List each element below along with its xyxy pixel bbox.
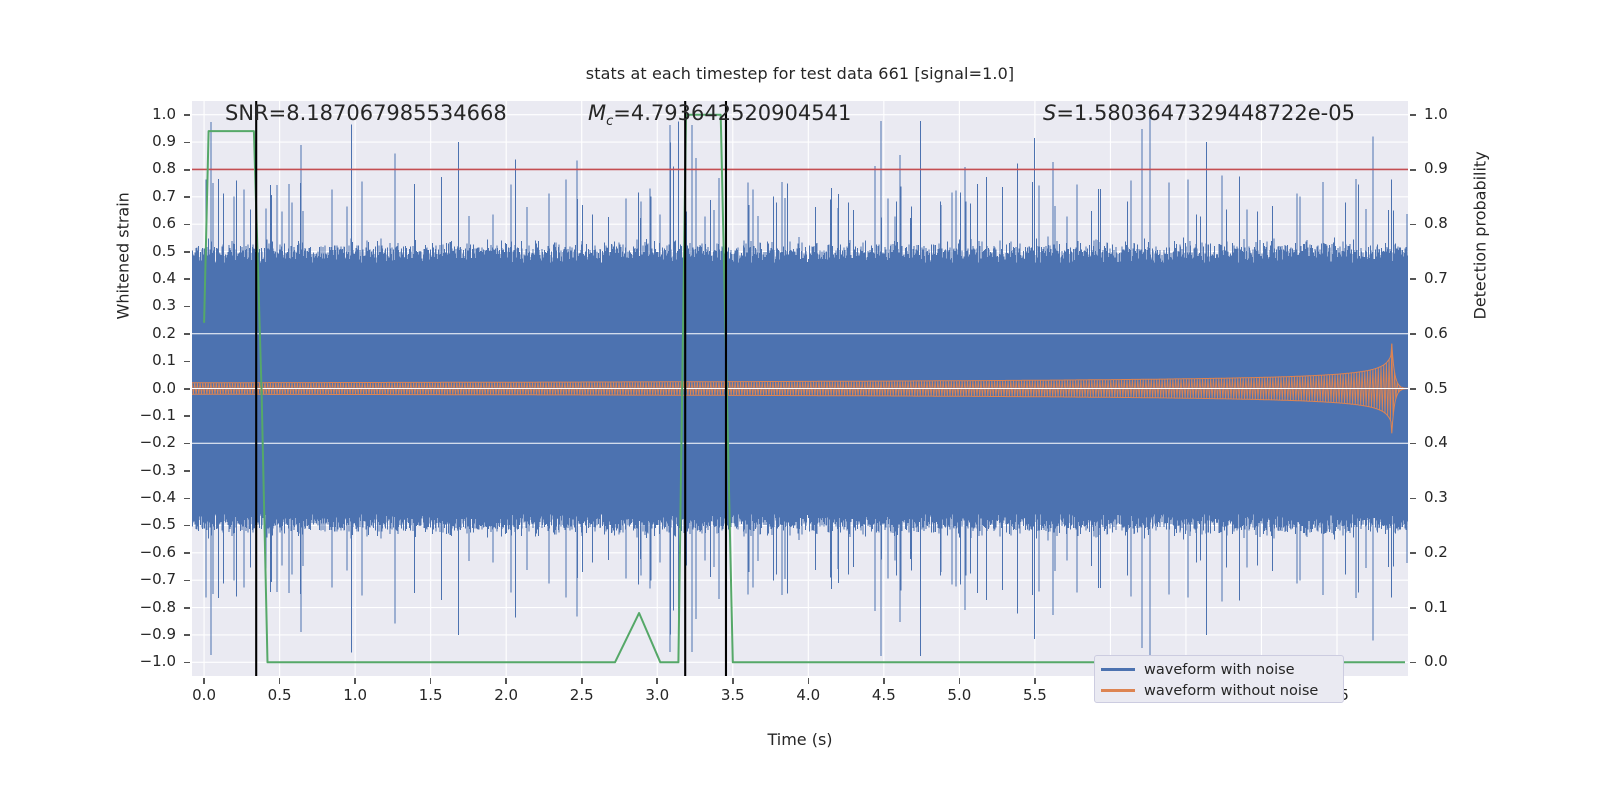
x-tick-label-6: 3.0 [631,686,683,704]
plot-axes-area [192,101,1408,676]
y-tick-mark-left-1 [184,142,190,144]
x-tick-label-5: 2.5 [556,686,608,704]
y-tick-mark-left-15 [184,525,190,527]
x-tick-mark-6 [656,678,658,684]
x-tick-mark-10 [959,678,961,684]
y-tick-label-right-9: 0.1 [1424,598,1468,616]
y-tick-mark-right-5 [1410,388,1416,390]
y-tick-label-left-19: −0.9 [132,625,176,643]
y-tick-label-left-4: 0.6 [132,214,176,232]
y-tick-mark-left-16 [184,552,190,554]
y-tick-label-right-7: 0.3 [1424,488,1468,506]
x-tick-label-2: 1.0 [329,686,381,704]
y-tick-mark-left-7 [184,306,190,308]
legend-swatch-orange [1101,689,1135,692]
y-tick-mark-right-7 [1410,498,1416,500]
y-tick-label-left-13: −0.3 [132,461,176,479]
x-tick-label-7: 3.5 [707,686,759,704]
legend-item-waveform-without-noise: waveform without noise [1101,680,1335,701]
y-tick-label-left-7: 0.3 [132,296,176,314]
y-tick-mark-left-19 [184,634,190,636]
y-tick-label-left-6: 0.4 [132,269,176,287]
annotation-mc-value: =4.793642520904541 [613,101,851,125]
y-tick-label-left-17: −0.7 [132,570,176,588]
y-tick-mark-left-5 [184,251,190,253]
x-tick-label-9: 4.5 [858,686,910,704]
y-tick-label-left-14: −0.4 [132,488,176,506]
y-tick-mark-left-13 [184,470,190,472]
y-tick-mark-left-18 [184,607,190,609]
legend-label-1: waveform without noise [1144,683,1318,699]
plot-svg [192,101,1408,676]
legend-item-waveform-with-noise: waveform with noise [1101,659,1335,680]
y-tick-mark-left-10 [184,388,190,390]
y-tick-label-left-10: 0.0 [132,379,176,397]
x-tick-mark-5 [581,678,583,684]
y-tick-label-left-9: 0.1 [132,351,176,369]
annotation-chirp-mass: Mc=4.793642520904541 [588,101,851,129]
y-tick-mark-right-4 [1410,333,1416,335]
x-tick-mark-8 [808,678,810,684]
y-tick-mark-left-4 [184,224,190,226]
legend-swatch-blue [1101,668,1135,671]
annotation-snr: SNR=8.187067985534668 [225,101,507,125]
y-tick-label-left-5: 0.5 [132,242,176,260]
y-tick-mark-left-2 [184,169,190,171]
annotation-s-value: =1.5803647329448722e-05 [1056,101,1355,125]
x-tick-label-8: 4.0 [782,686,834,704]
y-tick-mark-left-12 [184,443,190,445]
y-axis-label-right: Detection probability [1471,300,1490,320]
x-tick-label-10: 5.0 [933,686,985,704]
plot-content [192,101,1408,676]
figure-canvas: stats at each timestep for test data 661… [0,0,1600,800]
y-tick-label-left-8: 0.2 [132,324,176,342]
y-tick-mark-right-3 [1410,278,1416,280]
y-tick-mark-left-8 [184,333,190,335]
x-tick-mark-4 [505,678,507,684]
y-tick-mark-left-20 [184,662,190,664]
x-tick-label-11: 5.5 [1009,686,1061,704]
y-tick-label-right-5: 0.5 [1424,379,1468,397]
annotation-significance: S=1.5803647329448722e-05 [1043,101,1355,125]
x-tick-mark-3 [430,678,432,684]
y-tick-label-left-1: 0.9 [132,132,176,150]
x-tick-label-4: 2.0 [480,686,532,704]
annotation-s-symbol: S [1043,101,1056,125]
y-tick-label-right-3: 0.7 [1424,269,1468,287]
y-tick-mark-right-9 [1410,607,1416,609]
y-tick-label-right-2: 0.8 [1424,214,1468,232]
y-tick-mark-left-9 [184,361,190,363]
annotation-mc-symbol: Mc [588,101,613,125]
y-tick-mark-left-11 [184,415,190,417]
y-tick-label-left-0: 1.0 [132,105,176,123]
y-tick-label-right-6: 0.4 [1424,433,1468,451]
y-tick-label-right-0: 1.0 [1424,105,1468,123]
x-tick-mark-2 [354,678,356,684]
y-tick-label-left-15: −0.5 [132,515,176,533]
y-tick-label-left-20: −1.0 [132,652,176,670]
y-tick-label-right-4: 0.6 [1424,324,1468,342]
y-tick-label-right-10: 0.0 [1424,652,1468,670]
y-tick-mark-left-3 [184,196,190,198]
x-axis-label: Time (s) [192,730,1408,749]
x-tick-label-0: 0.0 [178,686,230,704]
y-tick-mark-right-0 [1410,114,1416,116]
y-axis-label-left: Whitened strain [114,300,133,320]
x-tick-mark-1 [279,678,281,684]
y-tick-mark-right-6 [1410,443,1416,445]
y-tick-mark-right-2 [1410,224,1416,226]
y-tick-mark-right-10 [1410,662,1416,664]
x-tick-label-1: 0.5 [254,686,306,704]
y-tick-mark-right-8 [1410,552,1416,554]
y-tick-label-left-2: 0.8 [132,159,176,177]
y-tick-mark-left-17 [184,580,190,582]
y-tick-mark-left-6 [184,278,190,280]
legend-label-0: waveform with noise [1144,662,1295,678]
x-tick-mark-11 [1034,678,1036,684]
y-tick-mark-right-1 [1410,169,1416,171]
y-tick-mark-left-14 [184,498,190,500]
x-tick-mark-9 [883,678,885,684]
y-tick-label-right-8: 0.2 [1424,543,1468,561]
y-tick-label-left-12: −0.2 [132,433,176,451]
y-tick-label-left-16: −0.6 [132,543,176,561]
x-tick-label-3: 1.5 [405,686,457,704]
y-tick-label-left-18: −0.8 [132,598,176,616]
y-tick-label-right-1: 0.9 [1424,159,1468,177]
y-tick-label-left-3: 0.7 [132,187,176,205]
x-tick-mark-0 [203,678,205,684]
chart-title: stats at each timestep for test data 661… [0,64,1600,83]
y-tick-label-left-11: −0.1 [132,406,176,424]
y-tick-mark-left-0 [184,114,190,116]
legend: waveform with noise waveform without noi… [1094,655,1344,703]
x-tick-mark-7 [732,678,734,684]
